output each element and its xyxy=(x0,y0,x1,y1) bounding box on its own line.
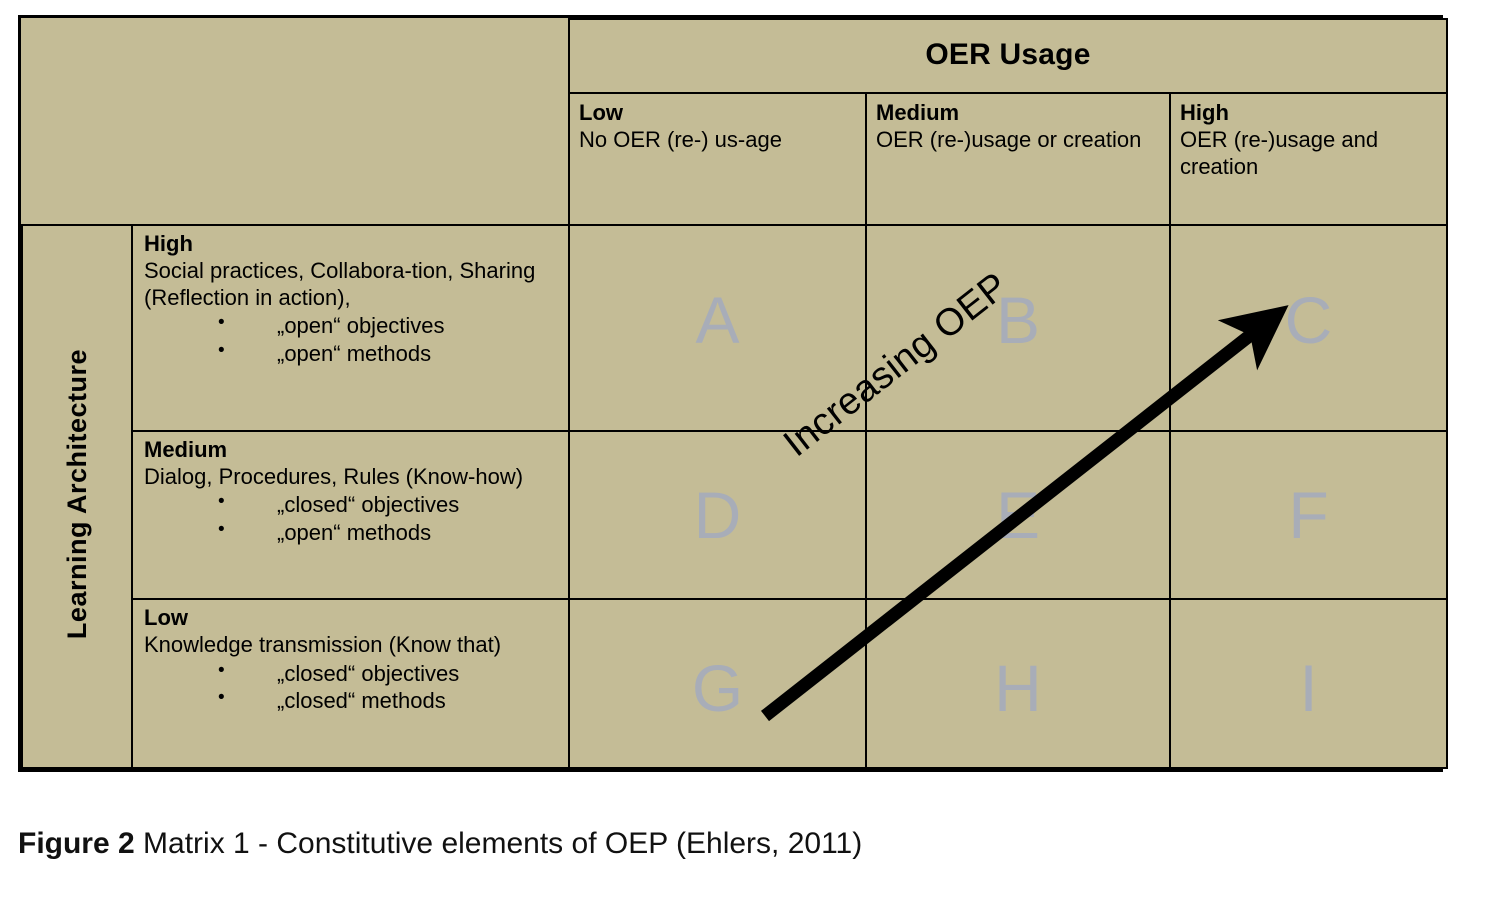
matrix-cell-high-high: C xyxy=(1170,225,1447,431)
column-header-high-title: High xyxy=(1180,100,1437,127)
figure-container: OER Usage Low No OER (re-) us-age Medium… xyxy=(0,0,1488,904)
header-row-axis-title: OER Usage xyxy=(22,19,1447,93)
cell-letter: E xyxy=(867,482,1169,548)
cell-letter: F xyxy=(1171,482,1446,548)
cell-letter: G xyxy=(570,655,865,721)
matrix-cell-low-high: I xyxy=(1170,599,1447,768)
column-header-high: High OER (re-)usage and creation xyxy=(1170,93,1447,225)
row-label-low-bullets: „closed“ objectives „closed“ methods xyxy=(144,660,560,716)
cell-letter: D xyxy=(570,482,865,548)
cell-letter: I xyxy=(1171,655,1446,721)
row-label-medium-bullets: „closed“ objectives „open“ methods xyxy=(144,491,560,547)
column-header-low: Low No OER (re-) us-age xyxy=(569,93,866,225)
row-label-high: High Social practices, Collabora-tion, S… xyxy=(132,225,569,431)
list-item: „closed“ objectives xyxy=(144,660,560,688)
matrix-cell-medium-medium: E xyxy=(866,431,1170,600)
row-label-low-title: Low xyxy=(144,604,560,631)
matrix-row-low: Low Knowledge transmission (Know that) „… xyxy=(22,599,1447,768)
column-header-high-description: OER (re-)usage and creation xyxy=(1180,127,1437,181)
list-item: „closed“ methods xyxy=(144,687,560,715)
column-header-medium: Medium OER (re-)usage or creation xyxy=(866,93,1170,225)
row-label-medium: Medium Dialog, Procedures, Rules (Know-h… xyxy=(132,431,569,600)
cell-letter: C xyxy=(1171,287,1446,353)
list-item: „open“ methods xyxy=(144,340,560,368)
row-label-high-title: High xyxy=(144,230,560,257)
cell-letter: A xyxy=(570,287,865,353)
row-label-medium-description: Dialog, Procedures, Rules (Know-how) xyxy=(144,463,560,490)
corner-blank-cell xyxy=(22,19,569,93)
list-item: „open“ objectives xyxy=(144,312,560,340)
column-header-medium-description: OER (re-)usage or creation xyxy=(876,127,1160,154)
matrix-table: OER Usage Low No OER (re-) us-age Medium… xyxy=(21,18,1448,769)
row-label-medium-title: Medium xyxy=(144,436,560,463)
matrix-cell-medium-high: F xyxy=(1170,431,1447,600)
row-label-low-description: Knowledge transmission (Know that) xyxy=(144,631,560,658)
figure-caption: Figure 2 Matrix 1 - Constitutive element… xyxy=(18,827,862,861)
column-axis-title: OER Usage xyxy=(569,19,1447,93)
figure-caption-text: Matrix 1 - Constitutive elements of OEP … xyxy=(135,827,863,860)
list-item: „closed“ objectives xyxy=(144,491,560,519)
oep-matrix: OER Usage Low No OER (re-) us-age Medium… xyxy=(18,15,1443,772)
figure-caption-number: Figure 2 xyxy=(18,827,135,860)
matrix-row-medium: Medium Dialog, Procedures, Rules (Know-h… xyxy=(22,431,1447,600)
column-header-low-description: No OER (re-) us-age xyxy=(579,127,856,154)
matrix-cell-high-low: A xyxy=(569,225,866,431)
row-axis-title: Learning Architecture xyxy=(62,349,93,639)
matrix-row-high: Learning Architecture High Social practi… xyxy=(22,225,1447,431)
matrix-cell-low-low: G xyxy=(569,599,866,768)
matrix-cell-low-medium: H xyxy=(866,599,1170,768)
corner-blank-cell-2 xyxy=(22,93,569,225)
matrix-cell-high-medium: B xyxy=(866,225,1170,431)
column-header-medium-title: Medium xyxy=(876,100,1160,127)
row-axis-title-cell: Learning Architecture xyxy=(22,225,132,768)
column-header-low-title: Low xyxy=(579,100,856,127)
matrix-cell-medium-low: D xyxy=(569,431,866,600)
cell-letter: H xyxy=(867,655,1169,721)
list-item: „open“ methods xyxy=(144,519,560,547)
header-row-columns: Low No OER (re-) us-age Medium OER (re-)… xyxy=(22,93,1447,225)
row-label-high-bullets: „open“ objectives „open“ methods xyxy=(144,312,560,368)
row-label-low: Low Knowledge transmission (Know that) „… xyxy=(132,599,569,768)
row-label-high-description: Social practices, Collabora-tion, Sharin… xyxy=(144,257,560,311)
cell-letter: B xyxy=(867,287,1169,353)
